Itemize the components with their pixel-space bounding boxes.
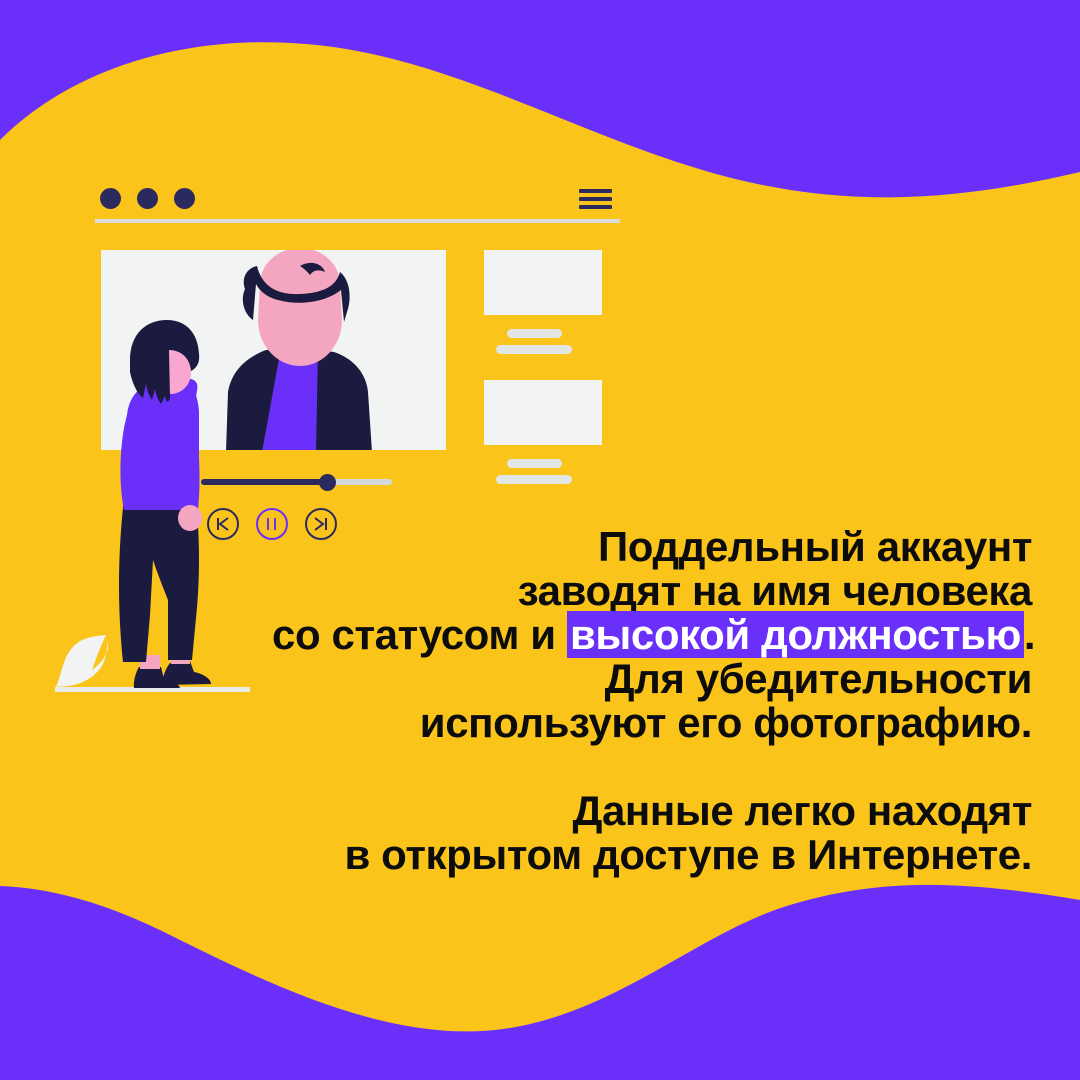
poster-canvas: Поддельный аккаунт заводят на имя челове… — [0, 0, 1080, 1080]
copy-line: Поддельный аккаунт — [272, 525, 1032, 569]
woman-back-view — [55, 320, 250, 692]
slider-fill — [201, 479, 329, 485]
copy-segment: . — [1024, 611, 1035, 658]
previous-track-button[interactable] — [207, 508, 239, 540]
copy-line-highlighted: со статусом и высокой должностью. — [272, 613, 1032, 657]
paragraph-2: Данные легко находят в открытом доступе … — [272, 789, 1032, 877]
copy-line: Для убедительности — [272, 657, 1032, 701]
man-face — [258, 248, 342, 366]
copy-block: Поддельный аккаунт заводят на имя челове… — [272, 525, 1032, 877]
copy-segment: со статусом и — [272, 611, 567, 658]
slider-knob[interactable] — [319, 474, 336, 491]
progress-slider[interactable] — [201, 476, 392, 486]
copy-line: Данные легко находят — [272, 789, 1032, 833]
copy-line: в открытом доступе в Интернете. — [272, 833, 1032, 877]
woman-hand — [178, 505, 202, 531]
copy-line: используют его фотографию. — [272, 701, 1032, 745]
man-in-suit-on-screen — [226, 248, 372, 452]
paragraph-1: Поддельный аккаунт заводят на имя челове… — [272, 525, 1032, 745]
highlight-segment: высокой должностью — [567, 611, 1024, 658]
woman-shoe-right — [163, 661, 211, 685]
leaf-shape — [56, 635, 108, 687]
copy-line: заводят на имя человека — [272, 569, 1032, 613]
